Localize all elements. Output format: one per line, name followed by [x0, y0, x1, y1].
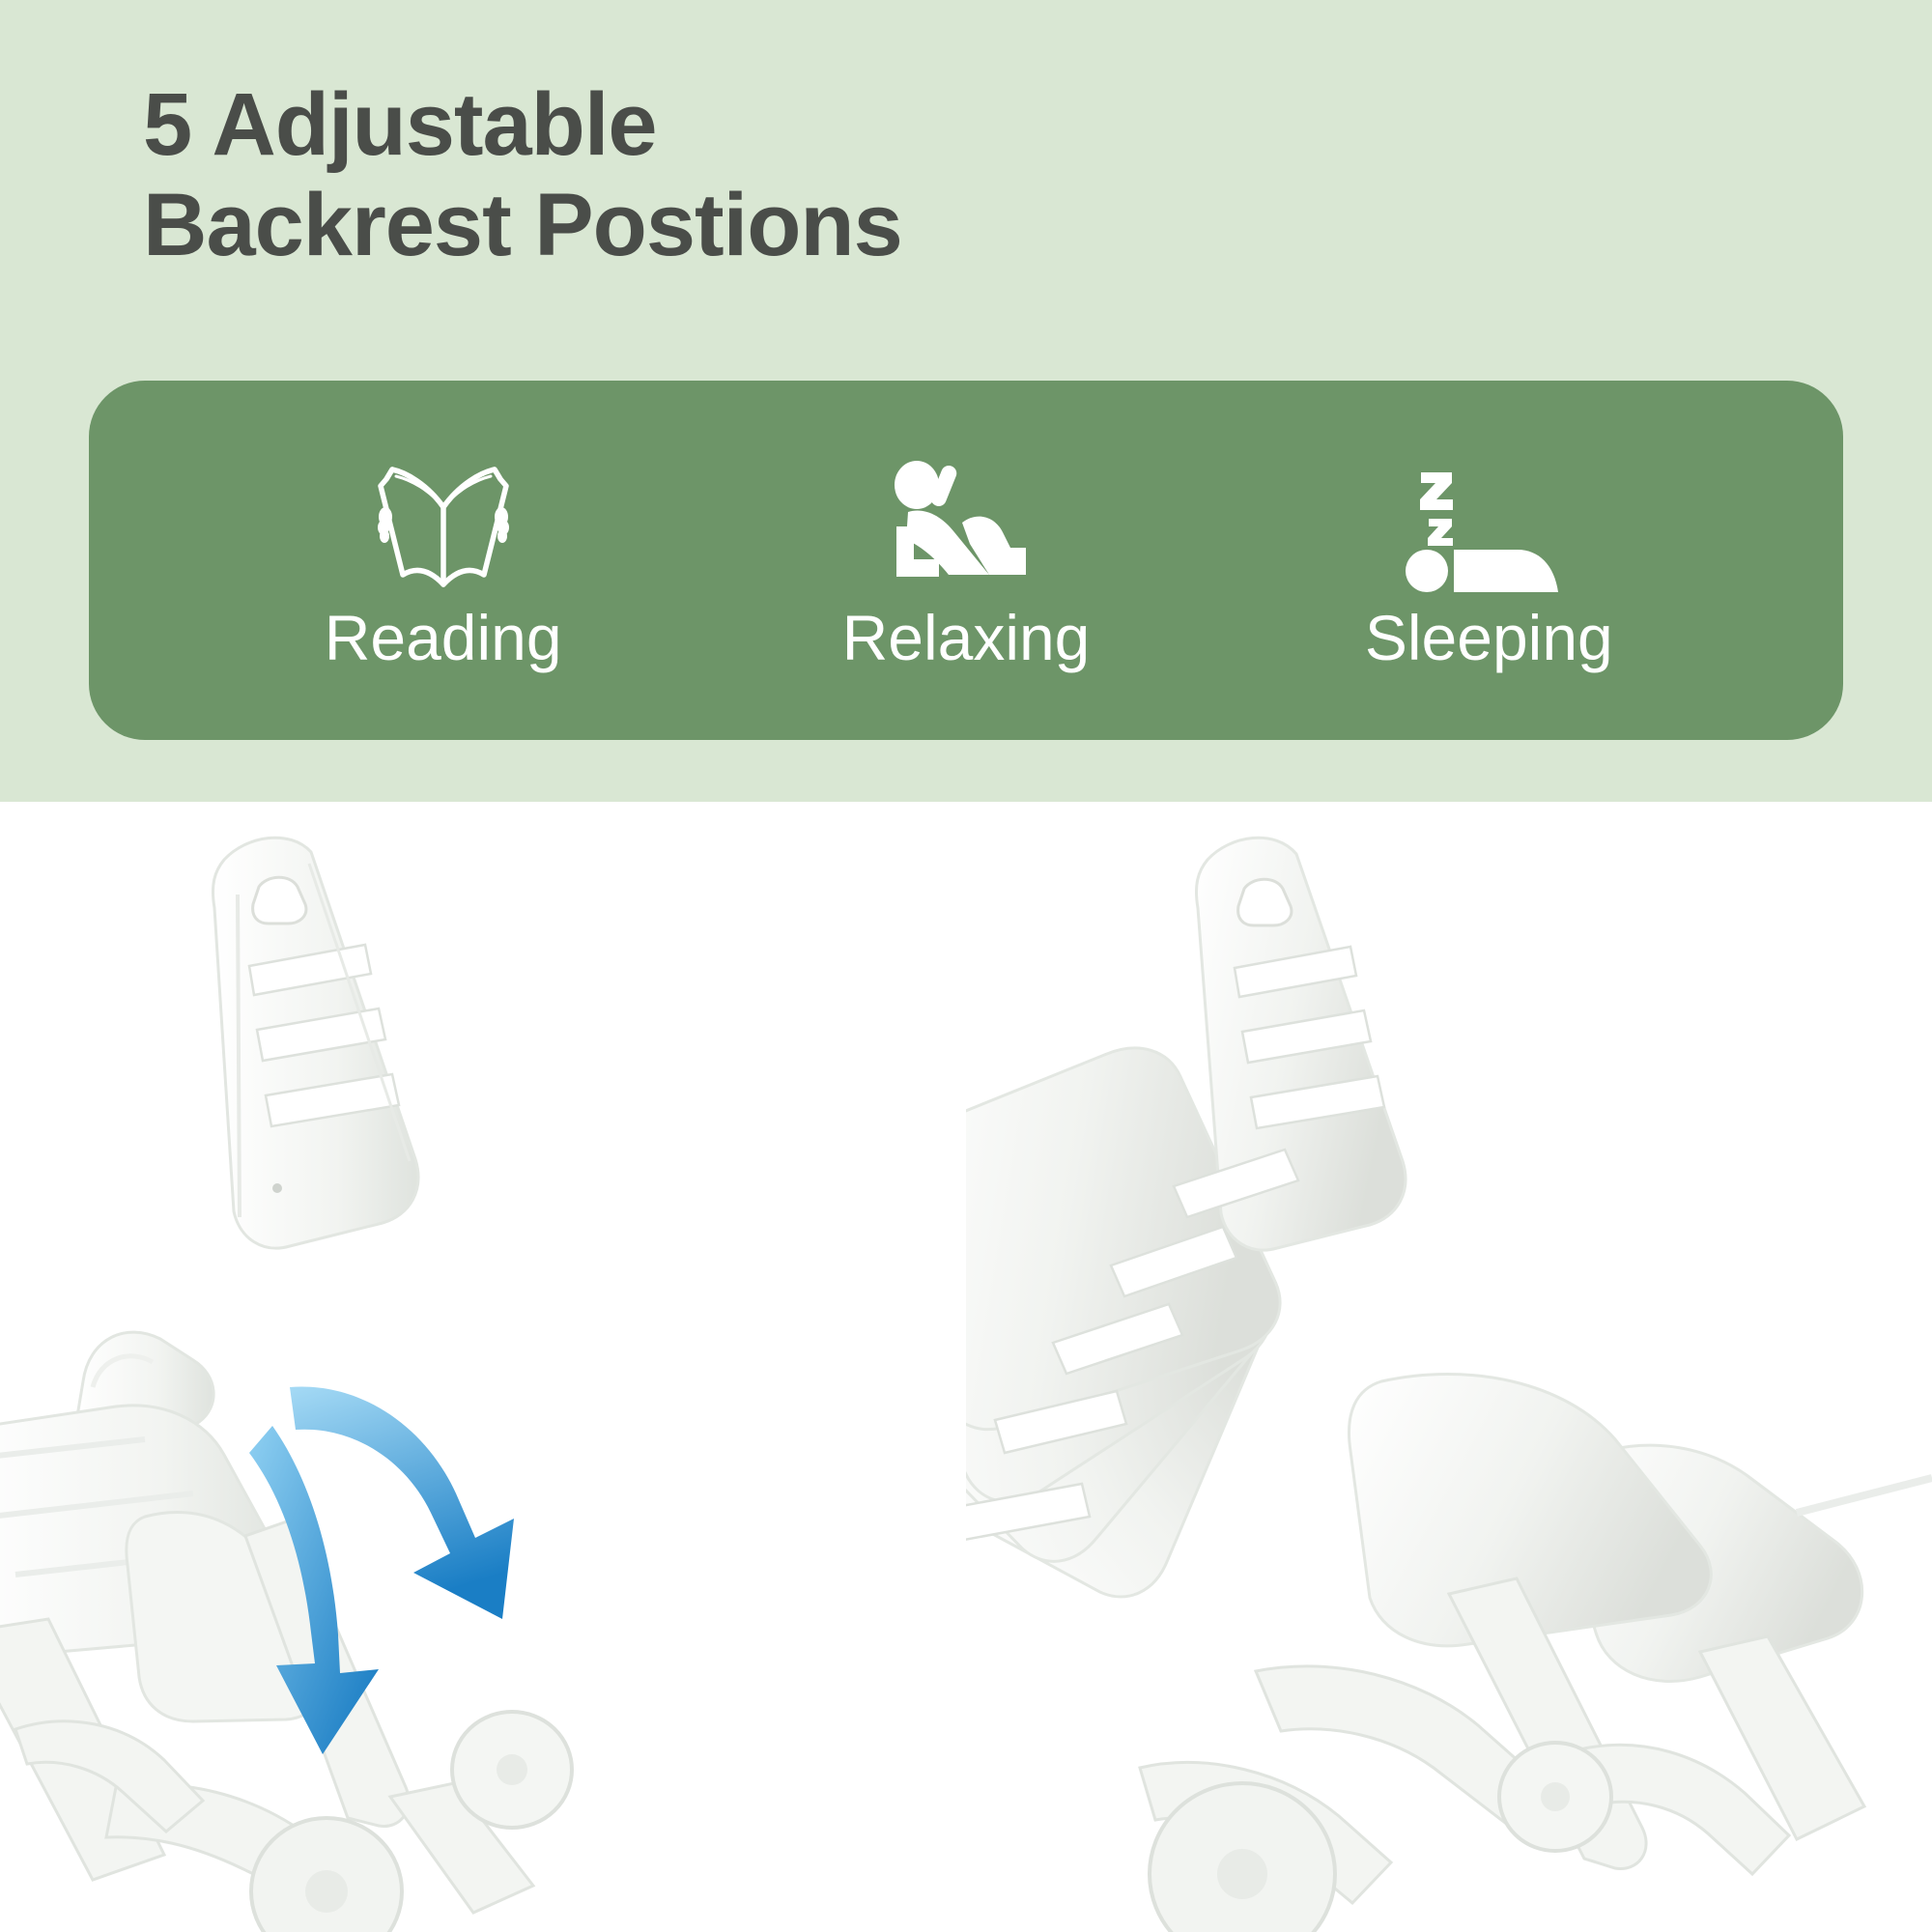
page-title-line-1: 5 Adjustable [143, 75, 1592, 176]
feature-reading: Reading [182, 451, 704, 669]
feature-relaxing-label: Relaxing [842, 606, 1091, 669]
product-photo-section [0, 802, 1932, 1932]
feature-banner: Reading [89, 381, 1843, 740]
chair-five-backrest-positions-photo [966, 802, 1932, 1932]
feature-relaxing: Relaxing [704, 451, 1227, 669]
feature-reading-label: Reading [325, 606, 562, 669]
feature-sleeping-label: Sleeping [1365, 606, 1613, 669]
infographic-page: 5 Adjustable Backrest Postions [0, 0, 1932, 1932]
page-title-line-2: Backrest Postions [143, 176, 1592, 276]
chair-backrest-adjusting-photo [0, 802, 966, 1932]
open-book-icon [347, 451, 540, 596]
feature-sleeping: Sleeping [1228, 451, 1750, 669]
person-reclining-icon [869, 451, 1063, 596]
header-section: 5 Adjustable Backrest Postions [0, 0, 1932, 802]
page-title: 5 Adjustable Backrest Postions [143, 75, 1592, 276]
person-sleeping-zzz-icon [1392, 451, 1585, 596]
